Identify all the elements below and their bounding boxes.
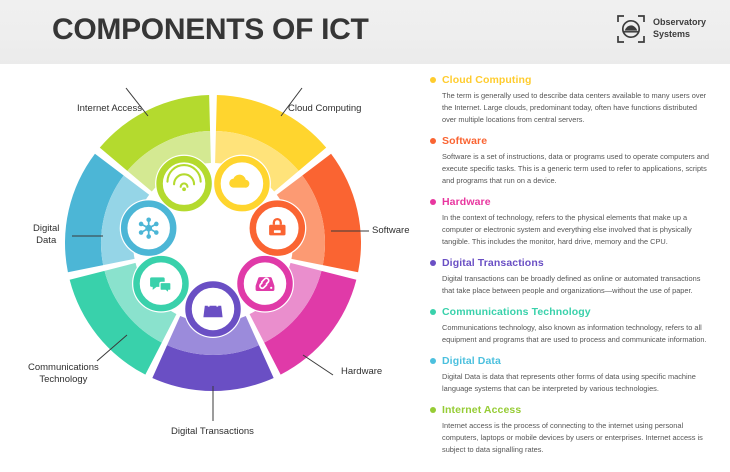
bullet-icon — [430, 199, 436, 205]
brand-logo: Observatory Systems — [616, 14, 706, 44]
description-item-cloud-computing: Cloud ComputingThe term is generally use… — [430, 74, 712, 126]
bullet-icon — [430, 138, 436, 144]
description-title: Hardware — [442, 196, 491, 208]
description-title: Cloud Computing — [442, 74, 532, 86]
description-heading-hardware: Hardware — [430, 196, 712, 208]
wheel-label-hardware: Hardware — [341, 366, 382, 378]
description-item-internet-access: Internet AccessInternet access is the pr… — [430, 404, 712, 456]
description-item-digital-data: Digital DataDigital Data is data that re… — [430, 355, 712, 395]
icon-badge-hardware[interactable] — [236, 255, 294, 313]
bullet-icon — [430, 309, 436, 315]
description-title: Digital Transactions — [442, 257, 544, 269]
description-title: Digital Data — [442, 355, 501, 367]
observatory-dome-icon — [616, 14, 646, 44]
description-heading-software: Software — [430, 135, 712, 147]
description-item-hardware: HardwareIn the context of technology, re… — [430, 196, 712, 248]
description-heading-digital-data: Digital Data — [430, 355, 712, 367]
infographic-page: COMPONENTS OF ICT Observatory Systems — [0, 0, 730, 472]
icon-badge-software[interactable] — [248, 199, 306, 257]
description-body: Digital transactions can be broadly defi… — [442, 273, 712, 297]
wheel-svg — [0, 64, 425, 472]
brand-name: Observatory Systems — [653, 17, 706, 41]
description-title: Software — [442, 135, 487, 147]
bullet-icon — [430, 407, 436, 413]
description-item-software: SoftwareSoftware is a set of instruction… — [430, 135, 712, 187]
description-title: Communications Technology — [442, 306, 591, 318]
wheel-segments — [65, 95, 361, 391]
description-heading-digital-transactions: Digital Transactions — [430, 257, 712, 269]
brand-line-2: Systems — [653, 29, 706, 41]
bullet-icon — [430, 77, 436, 83]
hard-drive-link-icon — [256, 277, 275, 291]
description-heading-internet-access: Internet Access — [430, 404, 712, 416]
icon-badge-internet-access[interactable] — [155, 155, 213, 213]
page-title: COMPONENTS OF ICT — [52, 13, 369, 47]
wheel-label-cloud-computing: Cloud Computing — [288, 103, 361, 115]
description-body: Internet access is the process of connec… — [442, 420, 712, 456]
description-list: Cloud ComputingThe term is generally use… — [430, 74, 712, 465]
description-body: Software is a set of instructions, data … — [442, 151, 712, 187]
donut-wheel-chart: Cloud ComputingSoftwareHardwareDigital T… — [0, 64, 425, 472]
wheel-label-digital-data: Digital Data — [33, 223, 59, 247]
wheel-label-internet-access: Internet Access — [77, 103, 142, 115]
icon-badge-communications-technology[interactable] — [132, 255, 190, 313]
icon-badge-digital-transactions[interactable] — [184, 280, 242, 338]
description-title: Internet Access — [442, 404, 521, 416]
wheel-label-software: Software — [372, 225, 410, 237]
description-body: In the context of technology, refers to … — [442, 212, 712, 248]
bullet-icon — [430, 358, 436, 364]
wheel-label-digital-transactions: Digital Transactions — [171, 426, 254, 438]
description-item-communications-technology: Communications TechnologyCommunications … — [430, 306, 712, 346]
description-body: Digital Data is data that represents oth… — [442, 371, 712, 395]
description-heading-communications-technology: Communications Technology — [430, 306, 712, 318]
description-heading-cloud-computing: Cloud Computing — [430, 74, 712, 86]
bullet-icon — [430, 260, 436, 266]
leader-line-hardware — [303, 355, 333, 375]
wheel-label-communications-technology: Communications Technology — [28, 362, 99, 386]
brand-line-1: Observatory — [653, 17, 706, 29]
page-header: COMPONENTS OF ICT Observatory Systems — [0, 0, 730, 64]
description-item-digital-transactions: Digital TransactionsDigital transactions… — [430, 257, 712, 297]
description-body: The term is generally used to describe d… — [442, 90, 712, 126]
description-body: Communications technology, also known as… — [442, 322, 712, 346]
